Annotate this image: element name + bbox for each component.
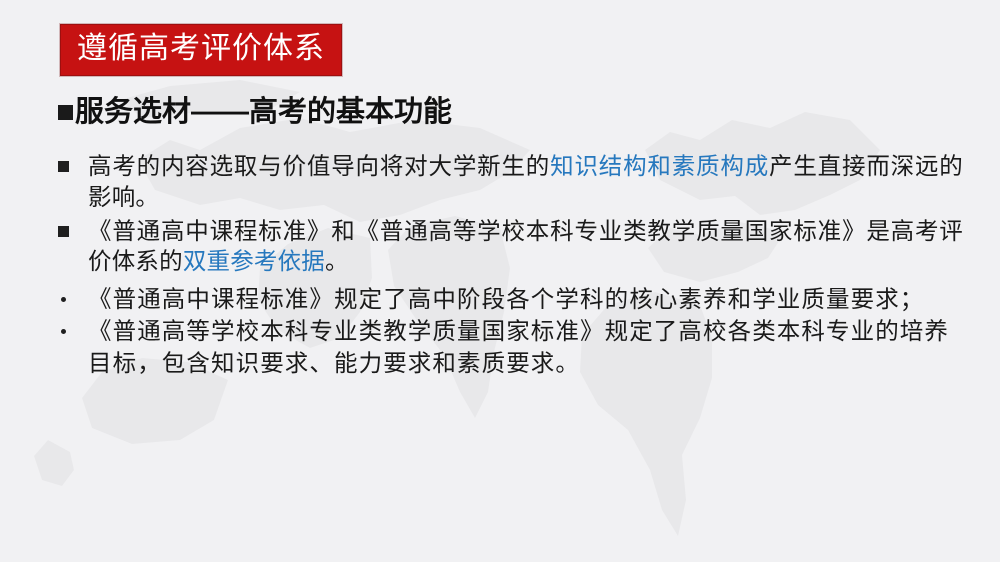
section-heading-text: 服务选材——高考的基本功能	[75, 95, 452, 130]
highlighted-text-segment: 知识结构和素质构成	[550, 153, 769, 179]
list-item: 高考的内容选取与价值导向将对大学新生的知识结构和素质构成产生直接而深远的影响。	[58, 151, 963, 213]
text-segment: 高考的内容选取与价值导向将对大学新生的	[88, 153, 550, 179]
presentation-slide: 遵循高考评价体系 服务选材——高考的基本功能 高考的内容选取与价值导向将对大学新…	[0, 0, 1000, 562]
list-item-text: 高考的内容选取与价值导向将对大学新生的知识结构和素质构成产生直接而深远的影响。	[88, 151, 963, 213]
list-item: 《普通高中课程标准》规定了高中阶段各个学科的核心素养和学业质量要求；	[58, 285, 963, 316]
highlighted-text-segment: 双重参考依据	[183, 248, 325, 274]
list-item-text: 《普通高等学校本科专业类教学质量国家标准》规定了高校各类本科专业的培养目标，包含…	[88, 317, 963, 380]
square-bullet-icon	[58, 105, 73, 120]
slide-title-text: 遵循高考评价体系	[77, 31, 325, 66]
square-bullet-icon	[58, 161, 69, 172]
bullet-marker	[58, 317, 88, 334]
bullet-marker	[58, 151, 88, 172]
section-heading: 服务选材——高考的基本功能	[58, 95, 452, 130]
list-item-text: 《普通高中课程标准》规定了高中阶段各个学科的核心素养和学业质量要求；	[88, 285, 963, 316]
list-item-text: 《普通高中课程标准》和《普通高等学校本科专业类教学质量国家标准》是高考评价体系的…	[88, 216, 963, 278]
list-item: 《普通高等学校本科专业类教学质量国家标准》规定了高校各类本科专业的培养目标，包含…	[58, 317, 963, 380]
list-item: 《普通高中课程标准》和《普通高等学校本科专业类教学质量国家标准》是高考评价体系的…	[58, 216, 963, 278]
dot-bullet-icon	[61, 297, 66, 302]
square-bullet-icon	[58, 226, 69, 237]
sub-bullet-list: 《普通高中课程标准》规定了高中阶段各个学科的核心素养和学业质量要求； 《普通高等…	[58, 285, 963, 380]
slide-title-banner: 遵循高考评价体系	[60, 24, 342, 76]
bullet-marker	[58, 216, 88, 237]
bullet-marker	[58, 285, 88, 302]
text-segment: 。	[325, 248, 349, 274]
bullet-list: 高考的内容选取与价值导向将对大学新生的知识结构和素质构成产生直接而深远的影响。 …	[58, 151, 963, 381]
dot-bullet-icon	[61, 329, 66, 334]
